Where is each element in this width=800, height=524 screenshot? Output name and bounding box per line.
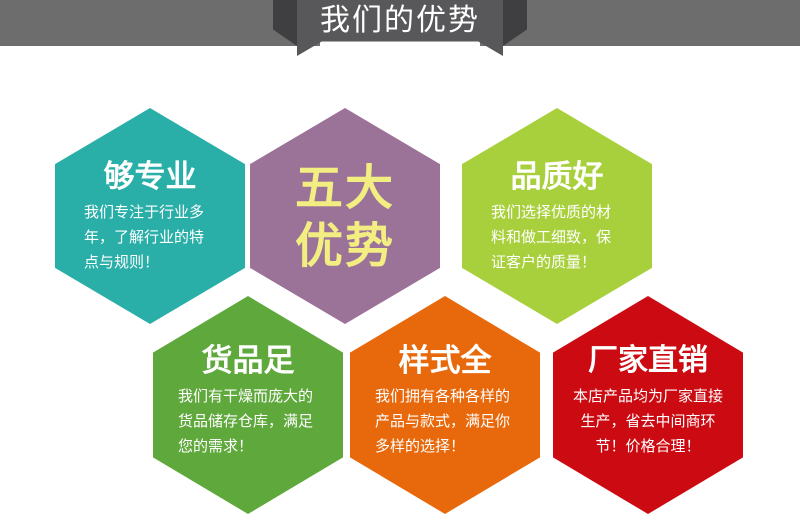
advantage-body: 我们选择优质的材料和做工细致，保证客户的质量！: [491, 200, 623, 275]
advantage-card-huo-pin-zu[interactable]: 货品足 我们有干燥而庞大的货品储存仓库，满足您的需求！: [153, 296, 343, 514]
advantage-card-gou-zhuan-ye[interactable]: 够专业 我们专注于行业多年，了解行业的特点与规则！: [55, 108, 245, 324]
advantage-body: 我们有干燥而庞大的货品储存仓库，满足您的需求！: [178, 384, 318, 459]
advantage-title: 厂家直销: [588, 344, 708, 378]
center-badge-line2: 优势: [295, 218, 395, 276]
advantage-title: 品质好: [511, 160, 604, 194]
infographic-canvas: 我们的优势 够专业 我们专注于行业多年，了解行业的特点与规则！ 五大 优势 品质…: [0, 0, 800, 524]
ribbon-wing-left: [0, 0, 320, 46]
advantage-body: 我们专注于行业多年，了解行业的特点与规则！: [84, 200, 216, 275]
advantage-title: 够专业: [104, 160, 197, 194]
advantage-title: 货品足: [202, 344, 295, 378]
page-title: 我们的优势: [320, 0, 480, 42]
center-badge-line1: 五大: [295, 160, 395, 218]
advantage-body: 我们拥有各种各样的产品与款式，满足你多样的选择！: [375, 384, 515, 459]
advantage-card-chang-jia-zhi-xiao[interactable]: 厂家直销 本店产品均为厂家直接生产，省去中间商环节！价格合理！: [553, 296, 743, 514]
ribbon-wing-right: [480, 0, 800, 46]
ribbon-plate: 我们的优势: [297, 0, 503, 56]
center-badge-five-advantages: 五大 优势: [250, 108, 440, 324]
header-ribbon: 我们的优势: [0, 0, 800, 56]
advantage-body: 本店产品均为厂家直接生产，省去中间商环节！价格合理！: [573, 384, 723, 459]
center-badge-text: 五大 优势: [295, 160, 395, 276]
advantage-card-pin-zhi-hao[interactable]: 品质好 我们选择优质的材料和做工细致，保证客户的质量！: [462, 108, 652, 324]
advantage-title: 样式全: [399, 344, 492, 378]
advantage-card-yang-shi-quan[interactable]: 样式全 我们拥有各种各样的产品与款式，满足你多样的选择！: [350, 296, 540, 514]
